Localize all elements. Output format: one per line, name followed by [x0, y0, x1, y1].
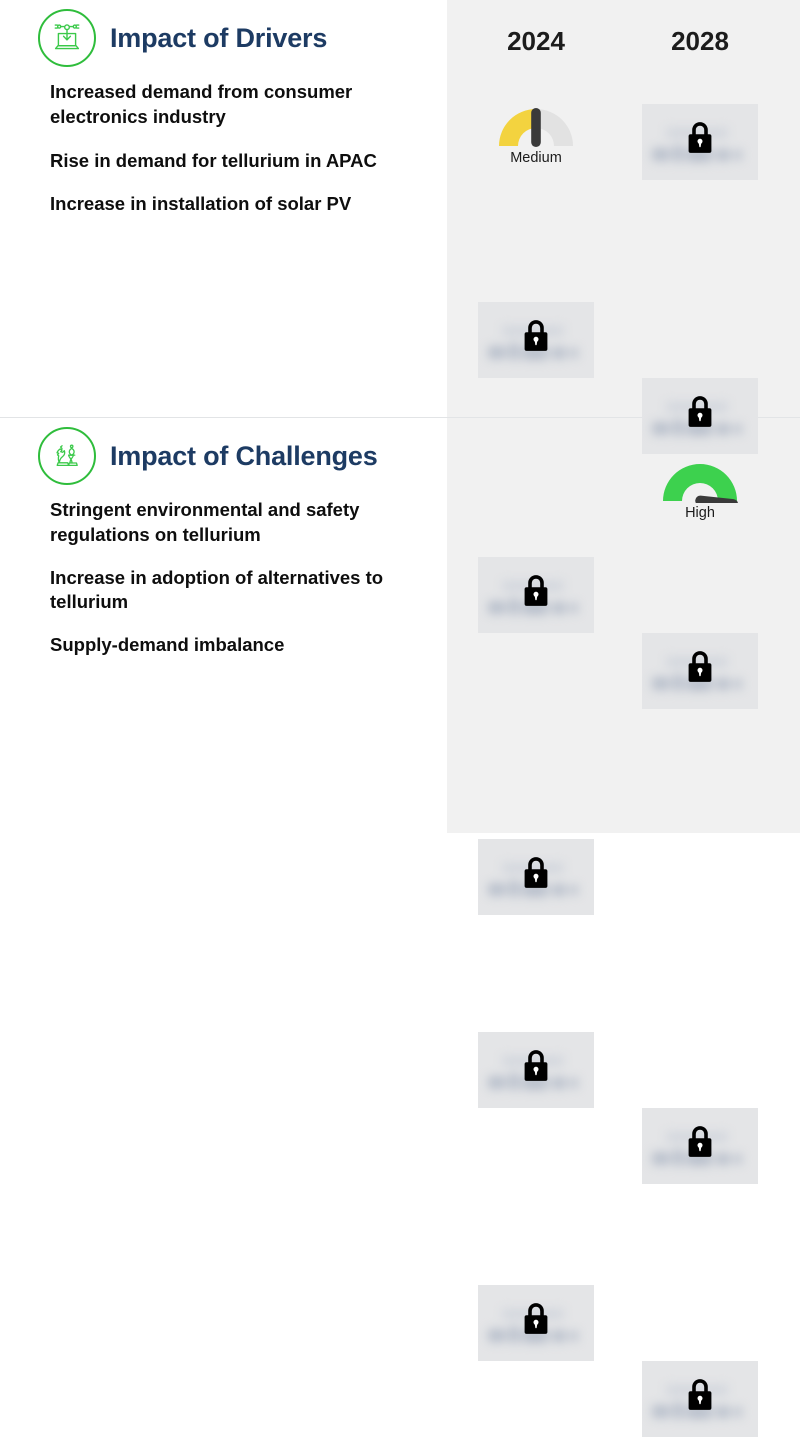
section-challenges: Impact of Challenges Stringent environme…: [0, 418, 447, 676]
challenges-title: Impact of Challenges: [110, 441, 378, 472]
list-item: Increased demand from consumer electroni…: [50, 80, 431, 130]
list-item: Increase in adoption of alternatives to …: [50, 566, 431, 616]
locked-cell-challenges-r1-2024[interactable]: [478, 839, 594, 915]
locked-cell-drivers-r3-2024[interactable]: [478, 557, 594, 633]
list-item: Increase in installation of solar PV: [50, 192, 431, 217]
gauge-medium-icon: [497, 104, 575, 148]
technology-download-icon: [38, 9, 96, 67]
gauge-cell-challenges-r1-2028: High: [642, 459, 758, 551]
lock-icon: [683, 118, 717, 163]
gauge-label-high: High: [685, 505, 715, 521]
lock-icon: [519, 571, 553, 616]
locked-cell-challenges-r2-2028[interactable]: [642, 1108, 758, 1184]
locked-cell-drivers-r3-2028[interactable]: [642, 633, 758, 709]
list-item: Rise in demand for tellurium in APAC: [50, 149, 431, 174]
lock-icon: [519, 316, 553, 361]
lock-icon: [683, 647, 717, 692]
list-item: Supply-demand imbalance: [50, 633, 431, 658]
locked-cell-drivers-r2-2028[interactable]: [642, 378, 758, 454]
locked-cell-drivers-r2-2024[interactable]: [478, 302, 594, 378]
gauge-label-medium: Medium: [510, 150, 562, 166]
lock-icon: [683, 1375, 717, 1420]
list-item: Stringent environmental and safety regul…: [50, 498, 431, 548]
gauge-high-icon: [661, 459, 739, 503]
lock-icon: [519, 853, 553, 898]
drivers-title: Impact of Drivers: [110, 23, 327, 54]
locked-cell-drivers-r1-2028[interactable]: [642, 104, 758, 180]
locked-cell-challenges-r2-2024[interactable]: [478, 1032, 594, 1108]
lock-icon: [683, 392, 717, 437]
section-drivers: Impact of Drivers Increased demand from …: [0, 0, 447, 236]
challenges-header: Impact of Challenges: [0, 418, 447, 494]
gauge-cell-drivers-r1-2024: Medium: [478, 104, 594, 196]
column-header-2024: 2024: [478, 26, 594, 57]
lock-icon: [683, 1122, 717, 1167]
chess-pieces-icon: [38, 427, 96, 485]
lock-icon: [519, 1046, 553, 1091]
challenges-item-list: Stringent environmental and safety regul…: [0, 498, 447, 658]
drivers-item-list: Increased demand from consumer electroni…: [0, 80, 447, 217]
lock-icon: [519, 1299, 553, 1344]
drivers-header: Impact of Drivers: [0, 0, 447, 76]
locked-cell-challenges-r3-2028[interactable]: [642, 1361, 758, 1437]
impact-matrix-page: 2024 2028: [0, 0, 800, 833]
column-header-2028: 2028: [642, 26, 758, 57]
left-content-column: Impact of Drivers Increased demand from …: [0, 0, 447, 833]
locked-cell-challenges-r3-2024[interactable]: [478, 1285, 594, 1361]
